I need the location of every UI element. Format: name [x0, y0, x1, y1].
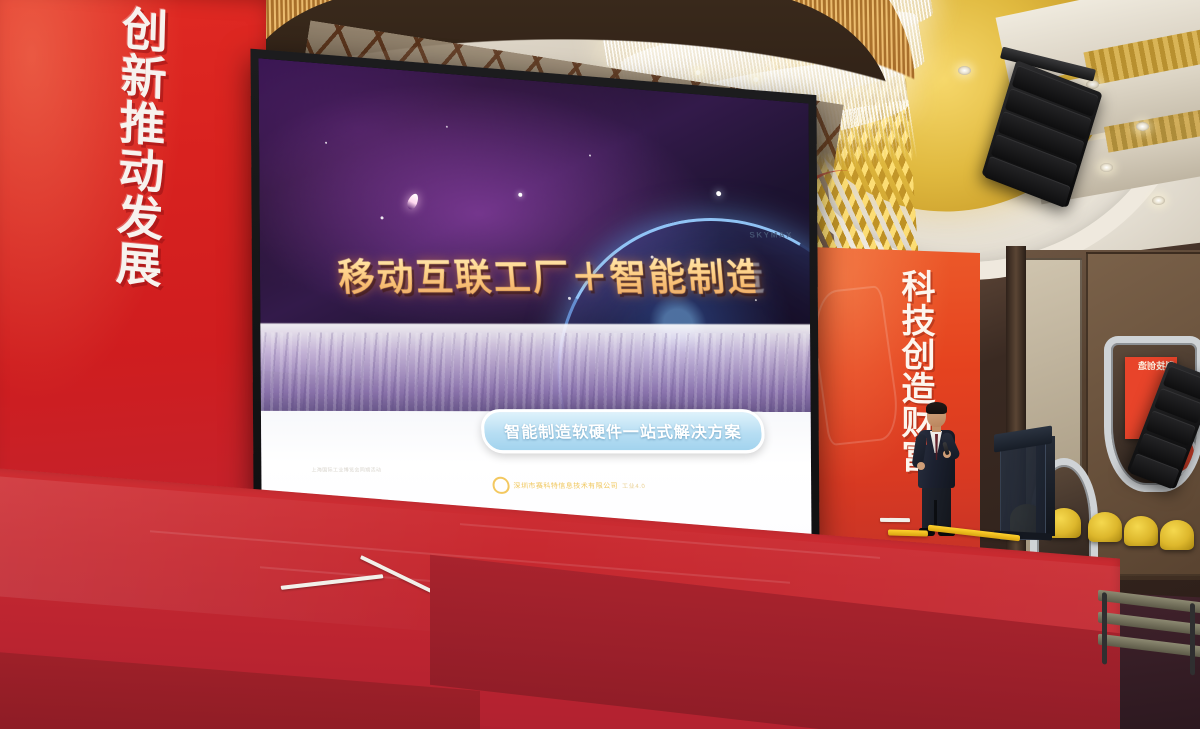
slide-footer-company: 深圳市赛科特信息技术有限公司 — [513, 480, 618, 490]
stage-step-rail — [1102, 592, 1107, 665]
slide-footer-left: 上海国际工业博览会同期活动 — [311, 466, 382, 473]
downlight — [1100, 163, 1113, 172]
company-logo-icon — [492, 476, 510, 493]
skymax-brand-logo: SKYMAX — [749, 231, 793, 240]
stage-steps — [1098, 590, 1200, 681]
slide-subtitle-pill: 智能制造软硬件一站式解决方案 — [479, 409, 766, 453]
presenter-hair — [926, 402, 947, 414]
downlight — [1136, 122, 1149, 131]
led-screen-frame: 移动互联工厂＋智能制造 智能制造软硬件一站式解决方案 SKYMAX 上海国际工业… — [250, 49, 819, 548]
slide-footer-tag: 工业4.0 — [622, 480, 646, 489]
podium — [1000, 442, 1046, 540]
slide-star — [518, 192, 522, 196]
left-banner-text: 创新推动发展 — [80, 1, 165, 289]
slide-star — [381, 216, 384, 219]
led-screen[interactable]: 移动互联工厂＋智能制造 智能制造软硬件一站式解决方案 SKYMAX 上海国际工业… — [258, 58, 811, 538]
slide-star — [446, 126, 448, 128]
banquet-chair — [1088, 512, 1122, 542]
slide-star — [325, 142, 327, 144]
stage-step — [1098, 612, 1200, 636]
banquet-chair — [1124, 516, 1158, 546]
downlight — [1152, 196, 1165, 205]
presenter — [914, 404, 960, 538]
cable-cover — [888, 529, 928, 536]
banquet-chair — [1160, 520, 1194, 550]
slide-footer-logo-group: 深圳市赛科特信息技术有限公司 工业4.0 — [492, 476, 646, 493]
downlight — [958, 66, 971, 75]
slide-main-title: 移动互联工厂＋智能制造 — [335, 247, 756, 301]
stage-marking-tape — [880, 518, 910, 522]
stage-step-rail — [1190, 603, 1195, 676]
stage-step — [1098, 634, 1200, 658]
presenter-hand-left — [917, 462, 925, 470]
presentation-photo: 科技创造 创新推动发展 科技创造财富 — [0, 0, 1200, 729]
